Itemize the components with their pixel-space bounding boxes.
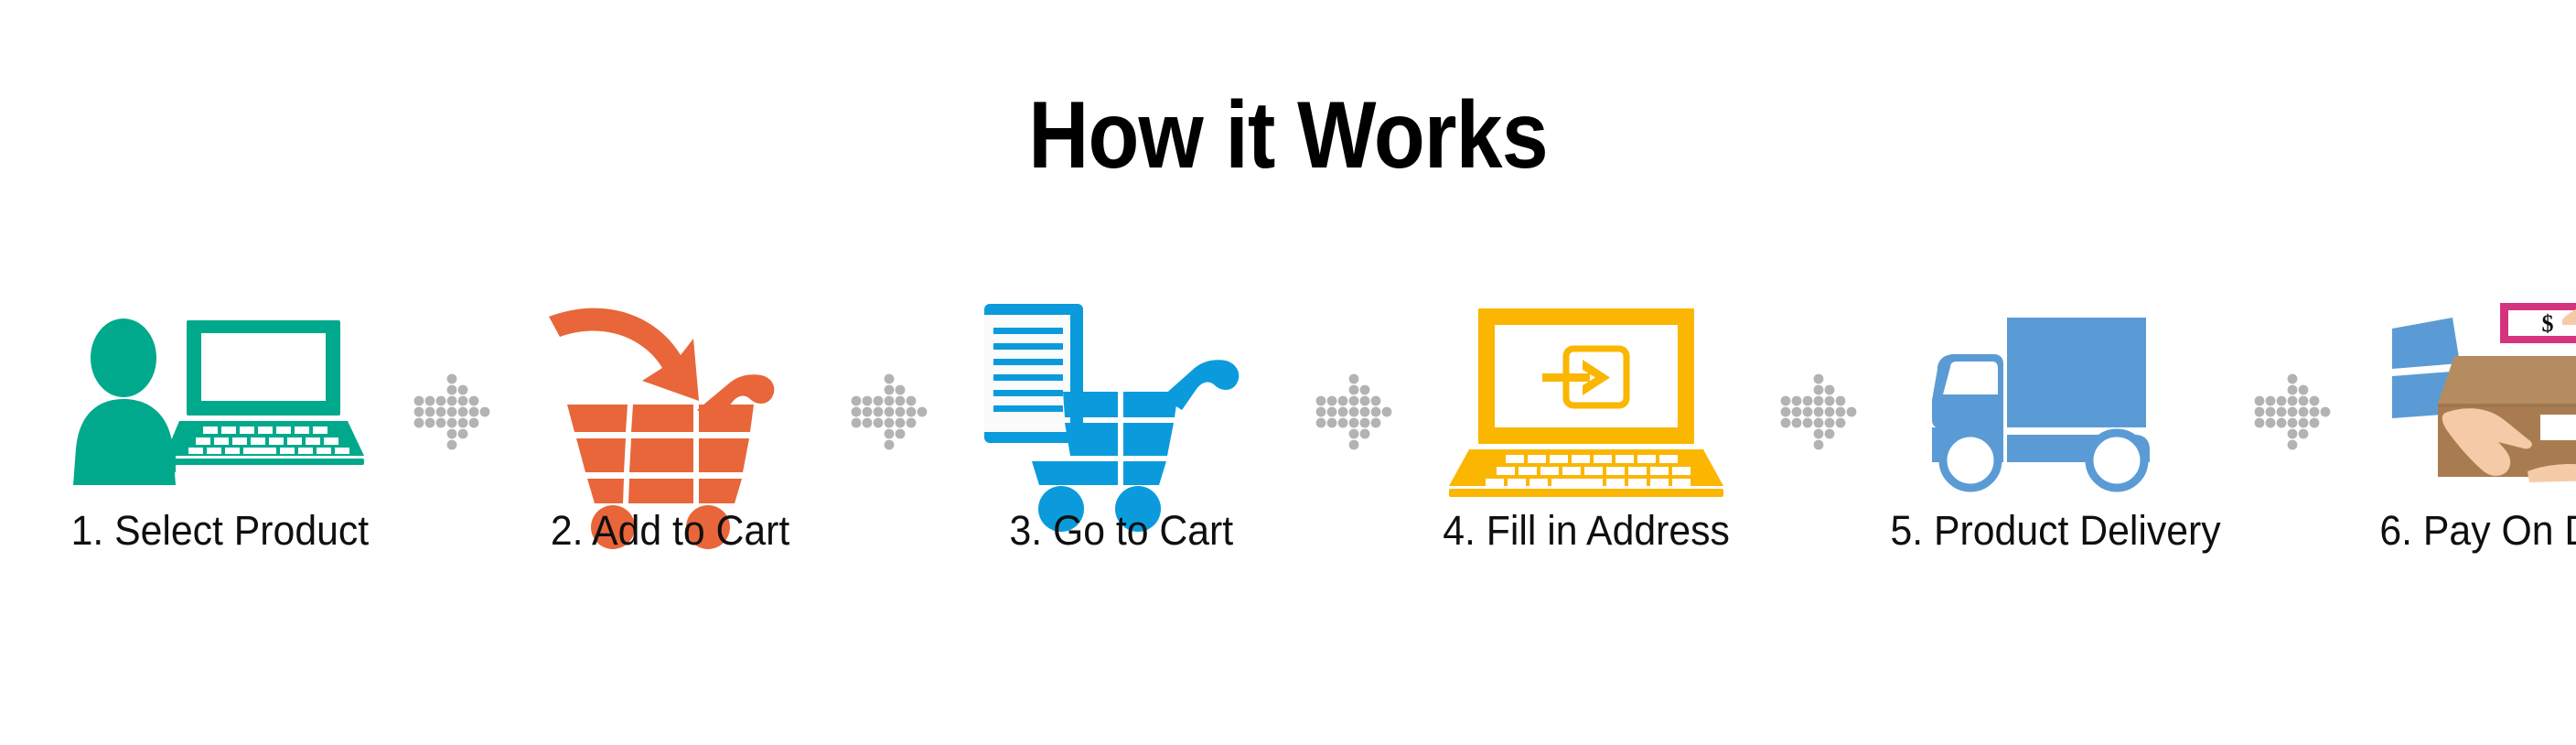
dotted-arrow-right-icon — [413, 373, 490, 450]
separator-arrow-4 — [1769, 320, 1868, 503]
money-symbol: $ — [2542, 310, 2554, 337]
laptop-login-form-icon — [1449, 307, 1723, 485]
step-6-pay-on-delivery[interactable]: $ 6. Pay On Delivery — [2342, 302, 2576, 552]
step-2-label: 2. Add to Cart — [551, 509, 789, 552]
separator-arrow-2 — [840, 320, 939, 503]
hands-exchanging-box-and-cash-icon: $ — [2392, 297, 2576, 485]
step-4-label: 4. Fill in Address — [1443, 509, 1730, 552]
separator-arrow-3 — [1304, 320, 1403, 503]
separator-arrow-1 — [402, 320, 501, 503]
document-and-cart-icon — [984, 302, 1259, 485]
step-5-product-delivery[interactable]: 5. Product Delivery — [1868, 302, 2243, 552]
step-3-go-to-cart[interactable]: 3. Go to Cart — [939, 302, 1304, 552]
step-5-label: 5. Product Delivery — [1890, 509, 2220, 552]
document-list-icon — [984, 304, 1083, 443]
delivery-truck-icon — [1914, 316, 2197, 485]
steps-row: 1. Select Product — [0, 302, 2576, 650]
step-6-label: 6. Pay On Delivery — [2380, 509, 2576, 552]
step-5-icon-box — [1868, 302, 2243, 485]
dotted-arrow-right-icon — [2254, 373, 2331, 450]
separator-arrow-5 — [2243, 320, 2342, 503]
dotted-arrow-right-icon — [851, 373, 928, 450]
step-4-fill-in-address[interactable]: 4. Fill in Address — [1403, 302, 1769, 552]
step-1-select-product[interactable]: 1. Select Product — [37, 302, 402, 552]
step-2-icon-box — [501, 302, 840, 485]
page-title: How it Works — [155, 88, 2421, 183]
how-it-works-infographic: How it Works — [0, 0, 2576, 745]
shopping-cart-with-arrow-icon — [547, 302, 794, 485]
step-1-icon-box — [37, 302, 402, 485]
step-1-label: 1. Select Product — [70, 509, 369, 552]
dotted-arrow-right-icon — [1780, 373, 1857, 450]
step-3-icon-box — [939, 302, 1304, 485]
step-4-icon-box — [1403, 302, 1769, 485]
step-6-icon-box: $ — [2342, 302, 2576, 485]
person-at-laptop-icon — [73, 311, 366, 485]
step-3-label: 3. Go to Cart — [1010, 509, 1234, 552]
step-2-add-to-cart[interactable]: 2. Add to Cart — [501, 302, 840, 552]
dotted-arrow-right-icon — [1315, 373, 1392, 450]
